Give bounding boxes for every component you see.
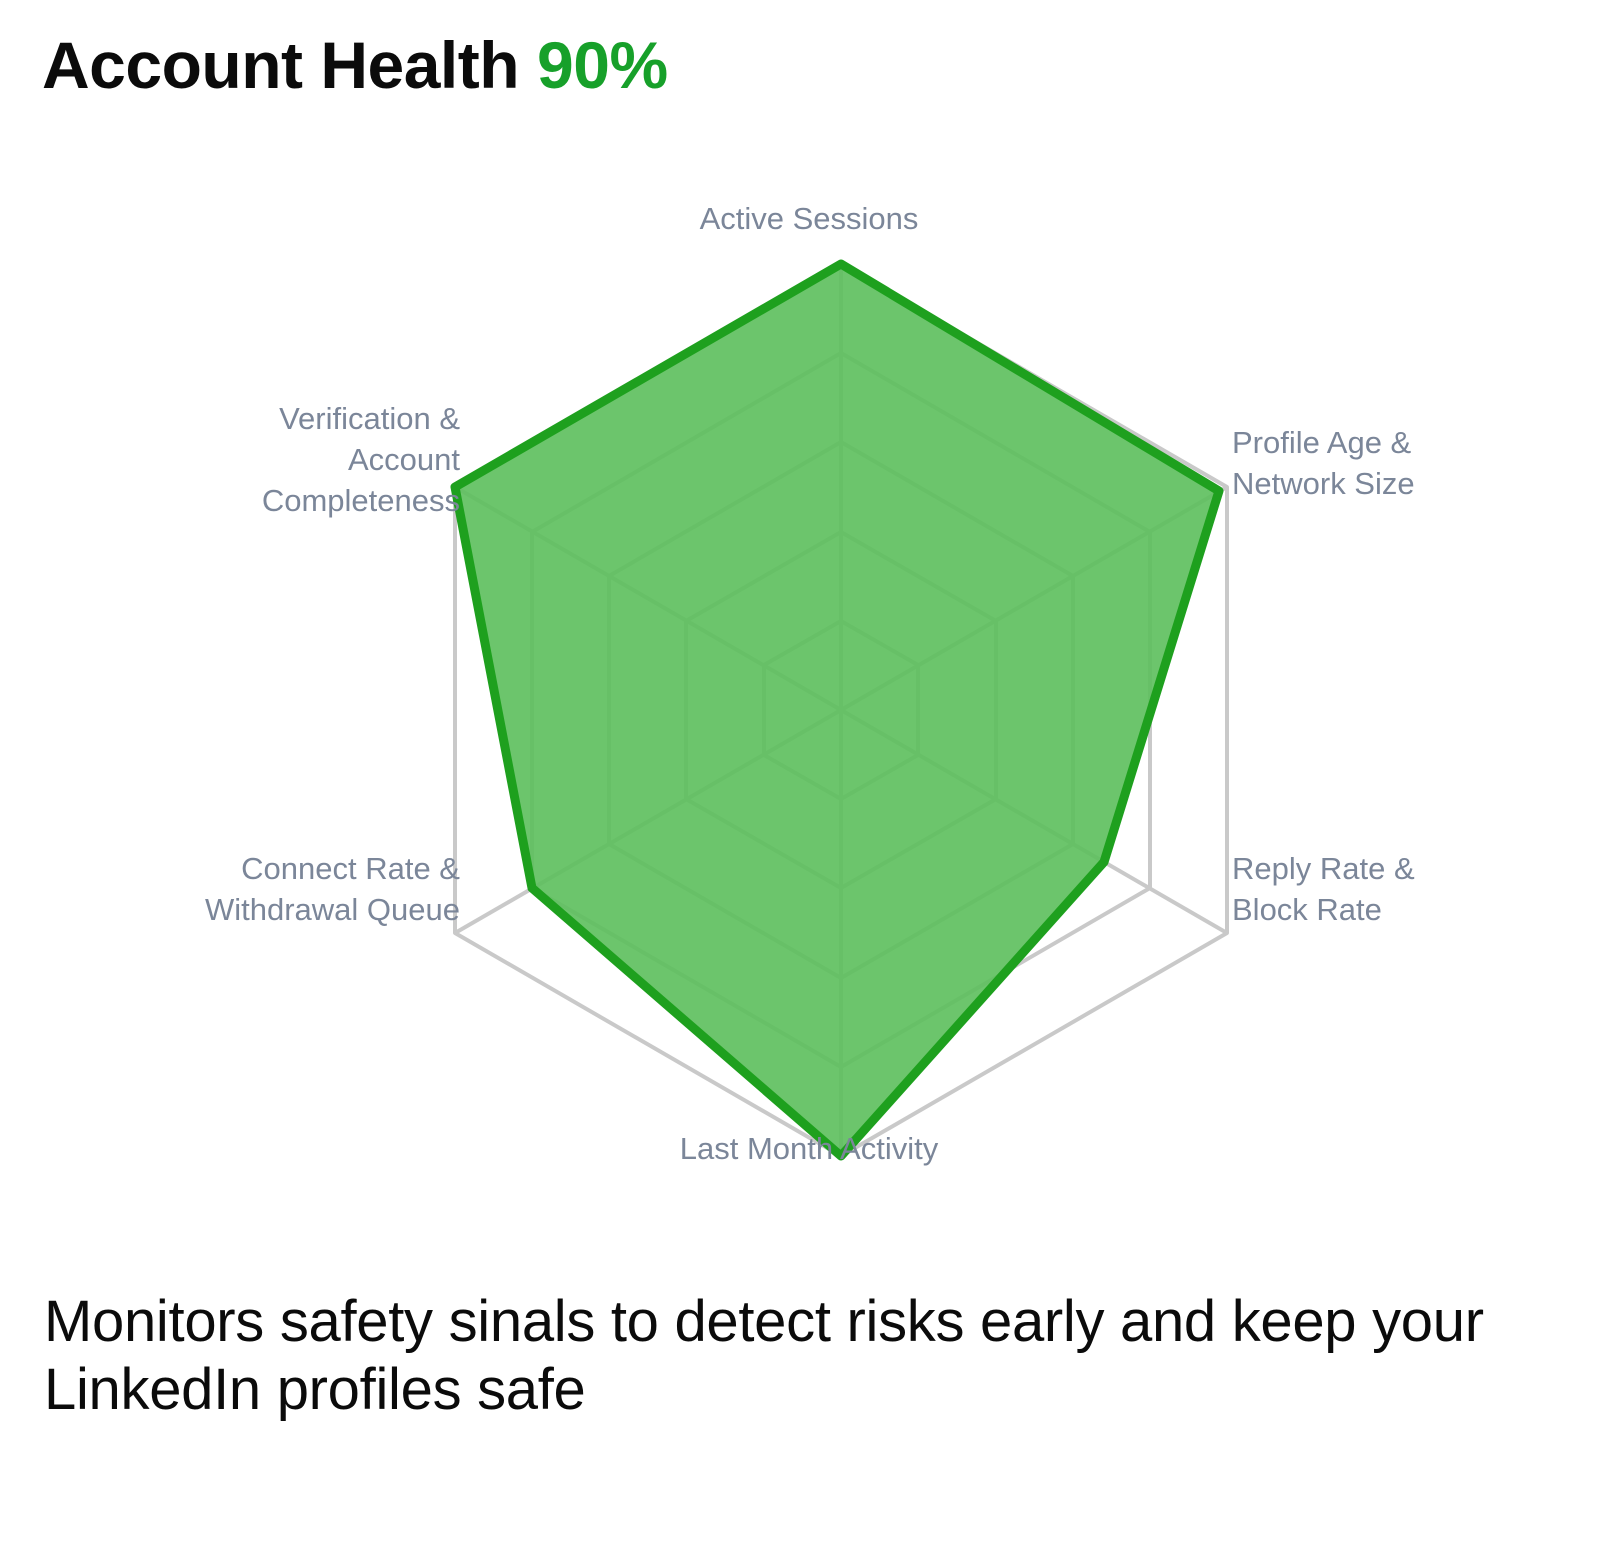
axis-label-profile-age-network-size: Profile Age & Network Size [1232, 422, 1592, 504]
radar-chart: Active Sessions Profile Age & Network Si… [0, 160, 1618, 1250]
health-score-value: 90% [537, 32, 668, 98]
radar-data-polygon [455, 264, 1219, 1156]
axis-label-last-month-activity: Last Month Activity [0, 1128, 1618, 1169]
page-title: Account Health [42, 32, 519, 98]
axis-label-active-sessions: Active Sessions [0, 198, 1618, 239]
axis-label-connect-rate-withdrawal-queue: Connect Rate & Withdrawal Queue [40, 848, 460, 930]
axis-label-verification-account-completeness: Verification & Account Completeness [40, 398, 460, 522]
account-health-card: Account Health 90% [0, 0, 1618, 1550]
description-text: Monitors safety sinals to detect risks e… [44, 1288, 1544, 1425]
card-header: Account Health 90% [42, 32, 668, 98]
card-footer: Monitors safety sinals to detect risks e… [44, 1288, 1544, 1425]
axis-label-reply-rate-block-rate: Reply Rate & Block Rate [1232, 848, 1592, 930]
radar-chart-svg [0, 160, 1618, 1250]
